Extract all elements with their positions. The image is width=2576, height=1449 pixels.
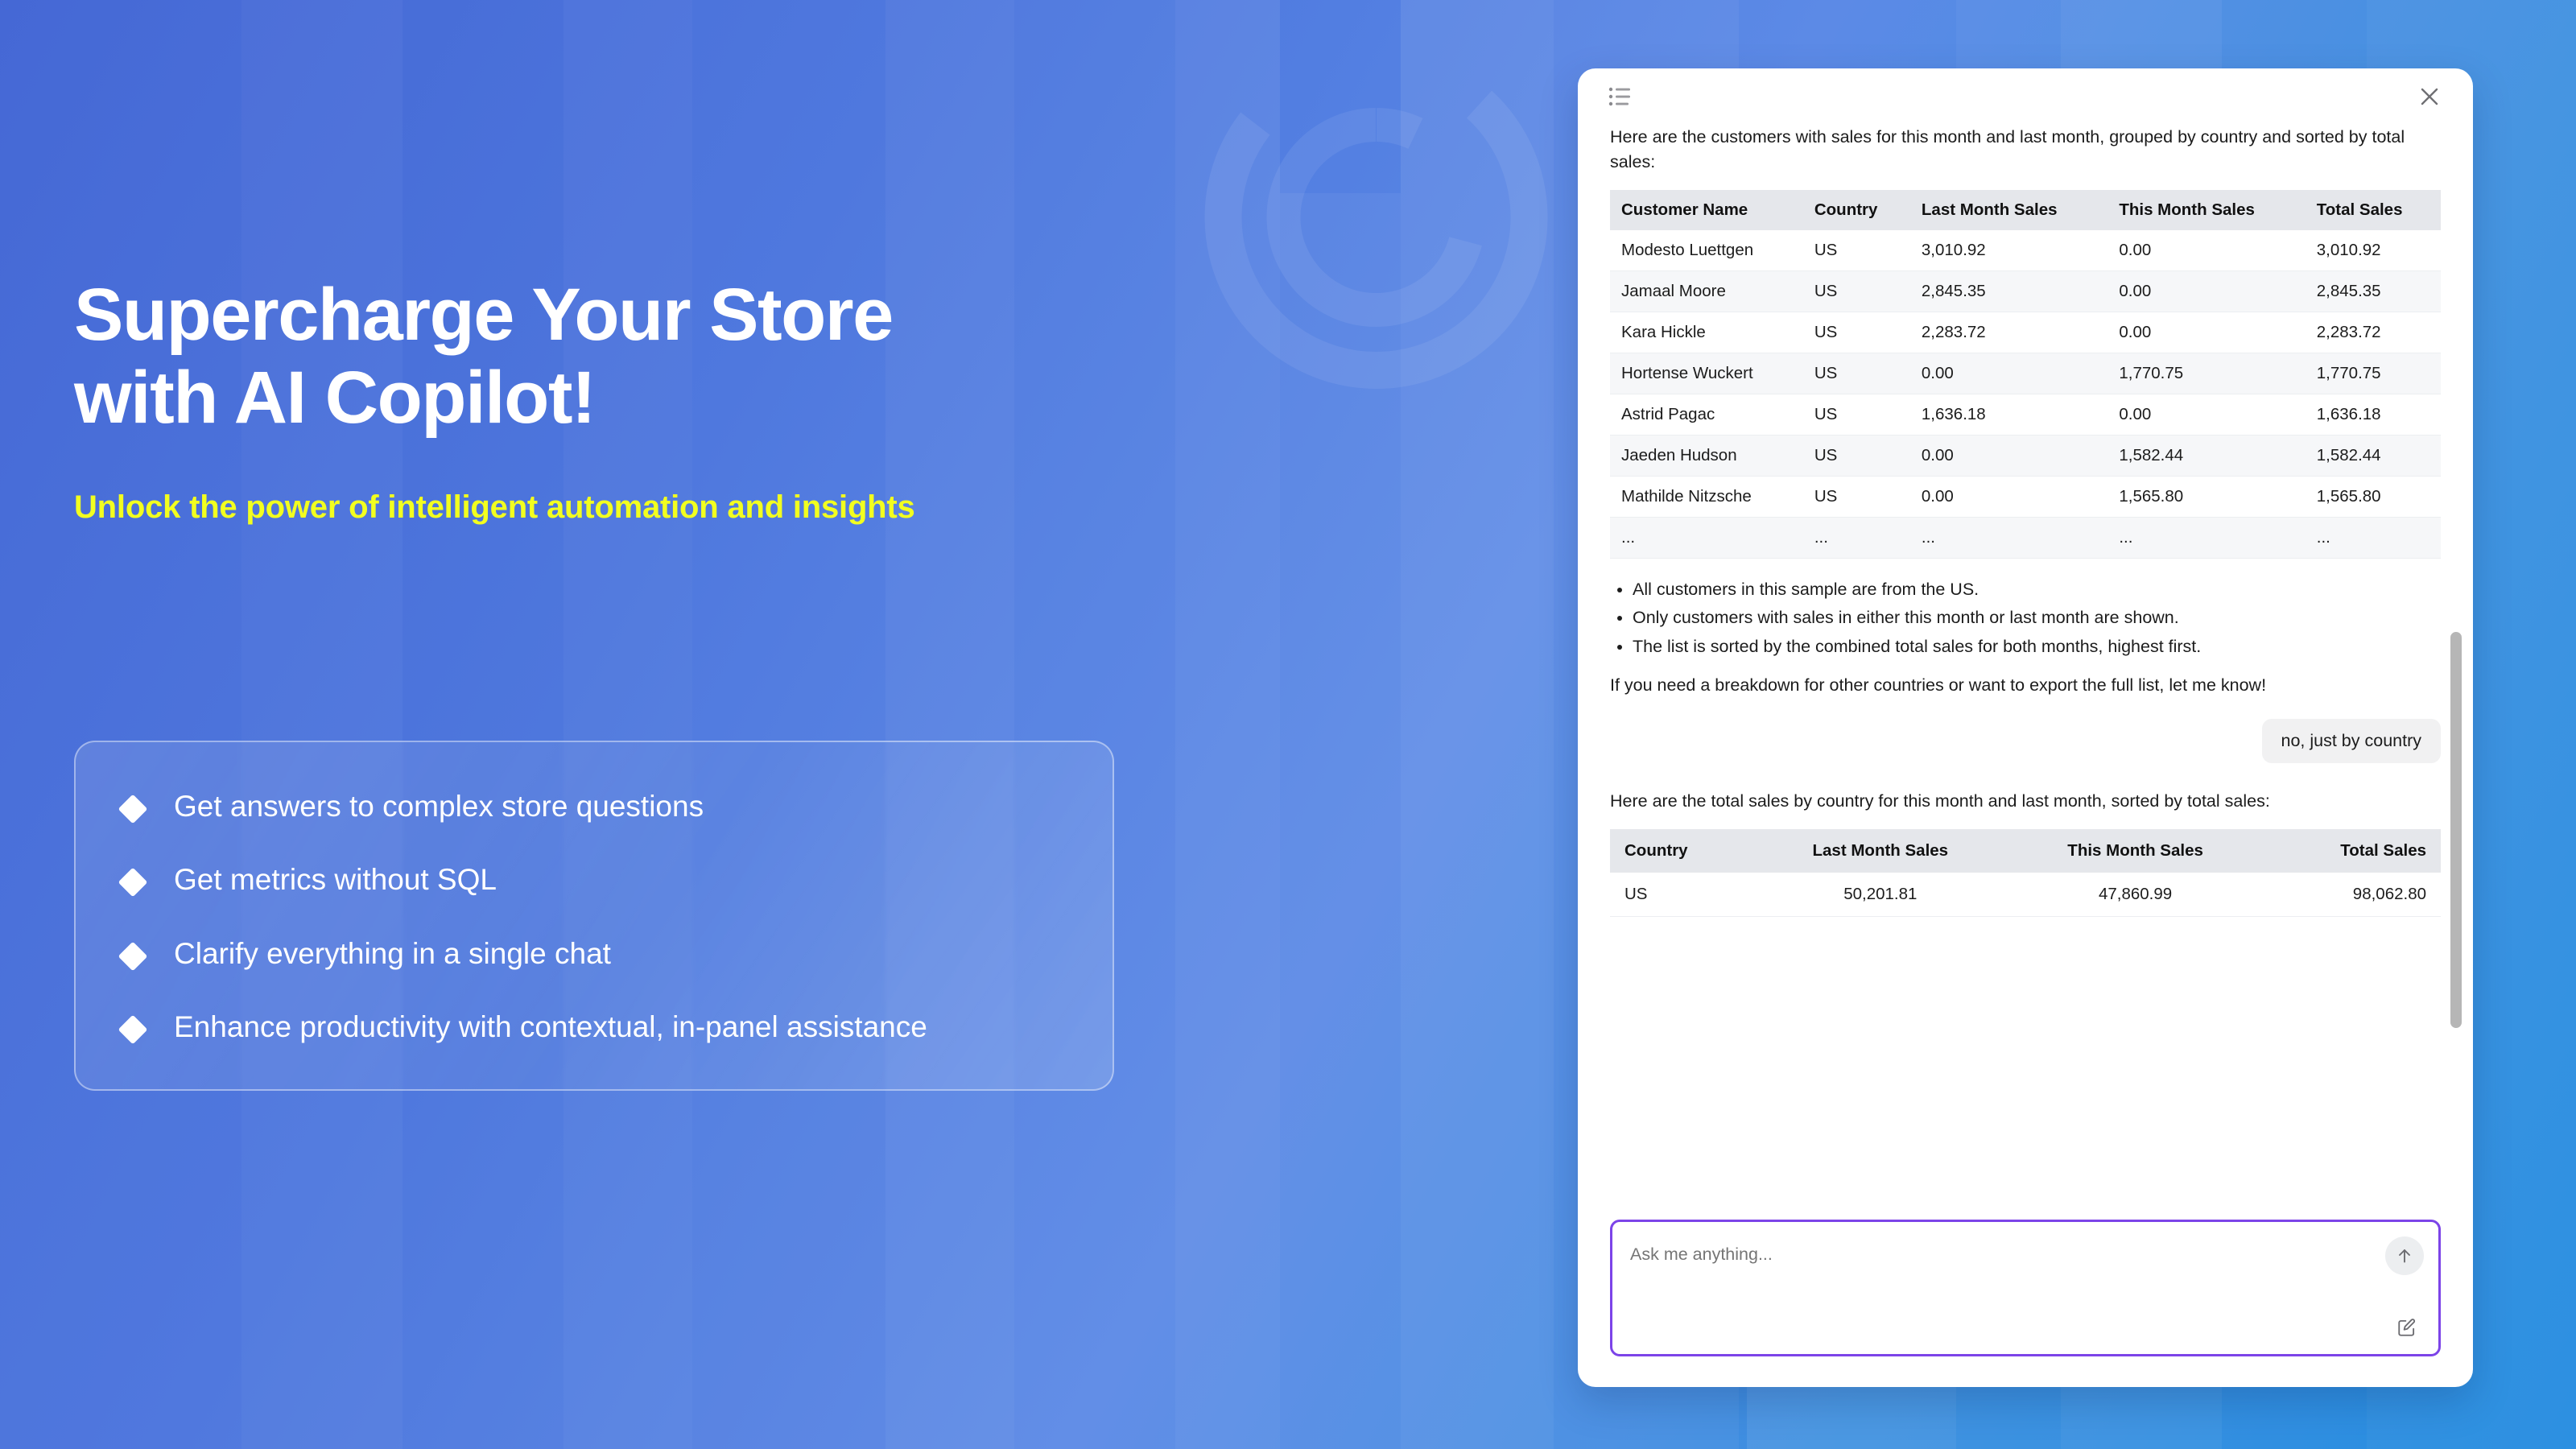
column-header: Last Month Sales xyxy=(1910,190,2107,230)
cell-customer-name: Kara Hickle xyxy=(1610,312,1803,353)
table-header-row: Customer Name Country Last Month Sales T… xyxy=(1610,190,2441,230)
edit-button[interactable] xyxy=(2393,1314,2421,1341)
table-header-row: Country Last Month Sales This Month Sale… xyxy=(1610,829,2441,873)
column-header: Country xyxy=(1803,190,1910,230)
cell-country: US xyxy=(1803,270,1910,312)
list-item: Get answers to complex store questions xyxy=(122,787,1080,825)
cell-this-month: ... xyxy=(2107,517,2305,558)
cell-last-month: ... xyxy=(1910,517,2107,558)
cell-customer-name: Jaeden Hudson xyxy=(1610,435,1803,476)
table-row: Jamaal Moore US 2,845.35 0.00 2,845.35 xyxy=(1610,270,2441,312)
cell-this-month: 1,582.44 xyxy=(2107,435,2305,476)
ai-copilot-chat-panel: Here are the customers with sales for th… xyxy=(1578,68,2473,1387)
column-header: Last Month Sales xyxy=(1752,829,2008,873)
list-item: All customers in this sample are from th… xyxy=(1633,576,2441,603)
column-header: Total Sales xyxy=(2306,190,2441,230)
table-row: Modesto Luettgen US 3,010.92 0.00 3,010.… xyxy=(1610,230,2441,271)
diamond-bullet-icon xyxy=(118,795,148,824)
list-item: Enhance productivity with contextual, in… xyxy=(122,1008,1080,1046)
table-row: Kara Hickle US 2,283.72 0.00 2,283.72 xyxy=(1610,312,2441,353)
search-input[interactable] xyxy=(1615,1224,2436,1352)
diamond-bullet-icon xyxy=(118,1015,148,1045)
cell-customer-name: Astrid Pagac xyxy=(1610,394,1803,435)
column-header: This Month Sales xyxy=(2107,190,2305,230)
list-icon[interactable] xyxy=(1608,86,1633,107)
table-row: Hortense Wuckert US 0.00 1,770.75 1,770.… xyxy=(1610,353,2441,394)
cell-total: ... xyxy=(2306,517,2441,558)
scrollbar-thumb[interactable] xyxy=(2450,632,2462,1028)
cell-total: 2,845.35 xyxy=(2306,270,2441,312)
assistant-closing-text: If you need a breakdown for other countr… xyxy=(1610,673,2441,698)
diamond-bullet-icon xyxy=(118,868,148,898)
cell-customer-name: Jamaal Moore xyxy=(1610,270,1803,312)
cell-this-month: 47,860.99 xyxy=(2008,873,2263,917)
cell-this-month: 1,770.75 xyxy=(2107,353,2305,394)
deco-bar xyxy=(885,0,1014,1449)
column-header: Total Sales xyxy=(2263,829,2441,873)
cell-this-month: 0.00 xyxy=(2107,230,2305,271)
list-item: The list is sorted by the combined total… xyxy=(1633,634,2441,660)
feature-list-card: Get answers to complex store questions G… xyxy=(74,741,1114,1091)
feature-label: Get metrics without SQL xyxy=(174,861,497,898)
cell-customer-name: Modesto Luettgen xyxy=(1610,230,1803,271)
edit-square-icon xyxy=(2396,1317,2417,1338)
feature-label: Get answers to complex store questions xyxy=(174,787,704,825)
cell-total: 98,062.80 xyxy=(2263,873,2441,917)
cell-customer-name: ... xyxy=(1610,517,1803,558)
chat-message-list[interactable]: Here are the customers with sales for th… xyxy=(1578,125,2473,1226)
chat-panel-header xyxy=(1578,68,2473,125)
cell-country: US xyxy=(1803,394,1910,435)
cell-customer-name: Hortense Wuckert xyxy=(1610,353,1803,394)
cell-total: 3,010.92 xyxy=(2306,230,2441,271)
deco-bar xyxy=(563,0,692,1449)
cell-country: US xyxy=(1803,476,1910,517)
list-item: Only customers with sales in either this… xyxy=(1633,605,2441,631)
feature-label: Enhance productivity with contextual, in… xyxy=(174,1008,927,1046)
feature-label: Clarify everything in a single chat xyxy=(174,935,611,972)
country-sales-table: Country Last Month Sales This Month Sale… xyxy=(1610,829,2441,917)
cell-this-month: 0.00 xyxy=(2107,394,2305,435)
cell-country: US xyxy=(1803,353,1910,394)
diamond-bullet-icon xyxy=(118,941,148,971)
message-composer[interactable] xyxy=(1610,1220,2441,1356)
scrollbar[interactable] xyxy=(2450,632,2462,1028)
send-button[interactable] xyxy=(2385,1236,2424,1275)
cell-country: US xyxy=(1803,230,1910,271)
arrow-up-icon xyxy=(2395,1246,2414,1265)
deco-bar xyxy=(402,0,563,1449)
cell-country: ... xyxy=(1803,517,1910,558)
deco-bar xyxy=(692,0,885,1449)
table-row: Jaeden Hudson US 0.00 1,582.44 1,582.44 xyxy=(1610,435,2441,476)
cell-country: US xyxy=(1803,312,1910,353)
cell-customer-name: Mathilde Nitzsche xyxy=(1610,476,1803,517)
list-item: Clarify everything in a single chat xyxy=(122,935,1080,972)
user-message-row: no, just by country xyxy=(1610,719,2441,763)
cell-last-month: 2,845.35 xyxy=(1910,270,2107,312)
deco-bar xyxy=(0,0,242,1449)
deco-bar xyxy=(1014,0,1175,1449)
cell-total: 1,582.44 xyxy=(2306,435,2441,476)
cell-last-month: 2,283.72 xyxy=(1910,312,2107,353)
cell-total: 1,770.75 xyxy=(2306,353,2441,394)
column-header: Country xyxy=(1610,829,1752,873)
table-row-ellipsis: ... ... ... ... ... xyxy=(1610,517,2441,558)
list-item: Get metrics without SQL xyxy=(122,861,1080,898)
cell-last-month: 50,201.81 xyxy=(1752,873,2008,917)
cell-this-month: 0.00 xyxy=(2107,312,2305,353)
assistant-intro-text: Here are the customers with sales for th… xyxy=(1610,125,2441,175)
assistant-second-intro-text: Here are the total sales by country for … xyxy=(1610,789,2441,814)
table-row: US 50,201.81 47,860.99 98,062.80 xyxy=(1610,873,2441,917)
cell-last-month: 1,636.18 xyxy=(1910,394,2107,435)
deco-bar xyxy=(242,0,402,1449)
cell-last-month: 3,010.92 xyxy=(1910,230,2107,271)
table-row: Mathilde Nitzsche US 0.00 1,565.80 1,565… xyxy=(1610,476,2441,517)
assistant-bullet-list: All customers in this sample are from th… xyxy=(1633,576,2441,660)
hero-subtitle: Unlock the power of intelligent automati… xyxy=(74,489,1491,526)
cell-last-month: 0.00 xyxy=(1910,476,2107,517)
column-header: Customer Name xyxy=(1610,190,1803,230)
cell-last-month: 0.00 xyxy=(1910,353,2107,394)
close-icon[interactable] xyxy=(2418,85,2441,108)
column-header: This Month Sales xyxy=(2008,829,2263,873)
page-title: Supercharge Your Store with AI Copilot! xyxy=(74,274,1491,440)
cell-country: US xyxy=(1610,873,1752,917)
customer-sales-table: Customer Name Country Last Month Sales T… xyxy=(1610,190,2441,559)
cell-last-month: 0.00 xyxy=(1910,435,2107,476)
cell-total: 1,636.18 xyxy=(2306,394,2441,435)
table-row: Astrid Pagac US 1,636.18 0.00 1,636.18 xyxy=(1610,394,2441,435)
cell-country: US xyxy=(1803,435,1910,476)
cell-total: 1,565.80 xyxy=(2306,476,2441,517)
hero-section: Supercharge Your Store with AI Copilot! … xyxy=(74,274,1491,526)
user-message-bubble: no, just by country xyxy=(2262,719,2441,763)
cell-this-month: 0.00 xyxy=(2107,270,2305,312)
cell-total: 2,283.72 xyxy=(2306,312,2441,353)
cell-this-month: 1,565.80 xyxy=(2107,476,2305,517)
